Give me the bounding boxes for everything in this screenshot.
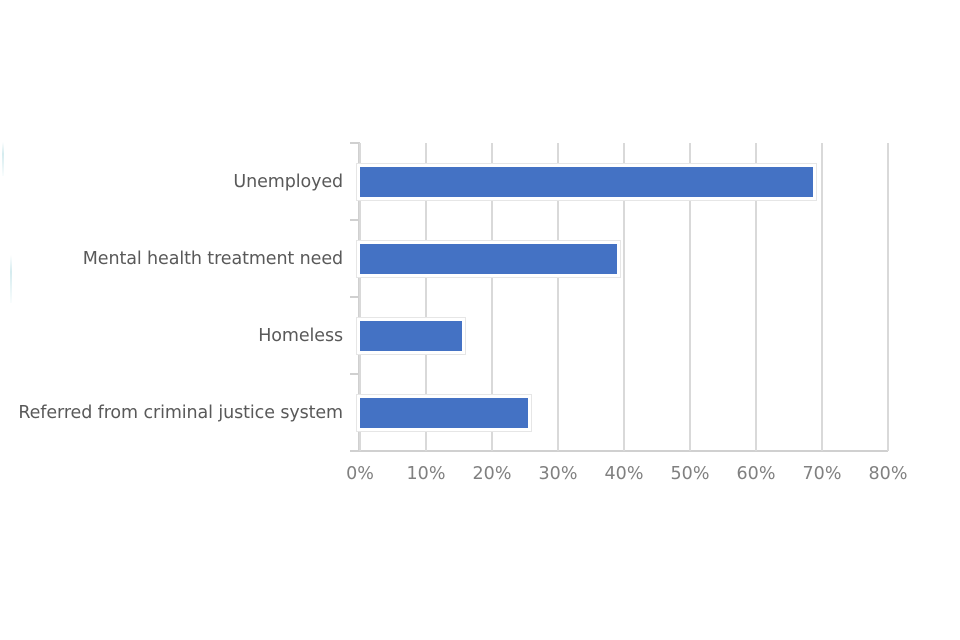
plot-area	[360, 143, 888, 451]
value-axis-label: 20%	[462, 463, 522, 485]
category-label: Homeless	[0, 326, 343, 346]
value-axis-label: 0%	[330, 463, 390, 485]
value-axis-label: 50%	[660, 463, 720, 485]
value-axis-label: 80%	[858, 463, 918, 485]
category-tick	[350, 219, 359, 221]
edge-artifact-top	[2, 142, 4, 176]
gridline-80	[887, 143, 889, 451]
bar-chart: UnemployedMental health treatment needHo…	[0, 0, 960, 640]
category-label: Mental health treatment need	[0, 249, 343, 269]
category-label: Referred from criminal justice system	[0, 403, 343, 423]
bar[interactable]	[360, 398, 528, 428]
category-axis-cap-bottom	[350, 450, 359, 452]
category-label: Unemployed	[0, 172, 343, 192]
category-tick	[350, 373, 359, 375]
value-axis-label: 60%	[726, 463, 786, 485]
value-axis-label: 10%	[396, 463, 456, 485]
category-axis-cap-top	[350, 142, 359, 144]
category-tick	[350, 296, 359, 298]
bar[interactable]	[360, 244, 617, 274]
value-axis-label: 40%	[594, 463, 654, 485]
gridline-70	[821, 143, 823, 451]
value-axis-label: 30%	[528, 463, 588, 485]
bar[interactable]	[360, 167, 813, 197]
bar[interactable]	[360, 321, 462, 351]
value-axis-label: 70%	[792, 463, 852, 485]
